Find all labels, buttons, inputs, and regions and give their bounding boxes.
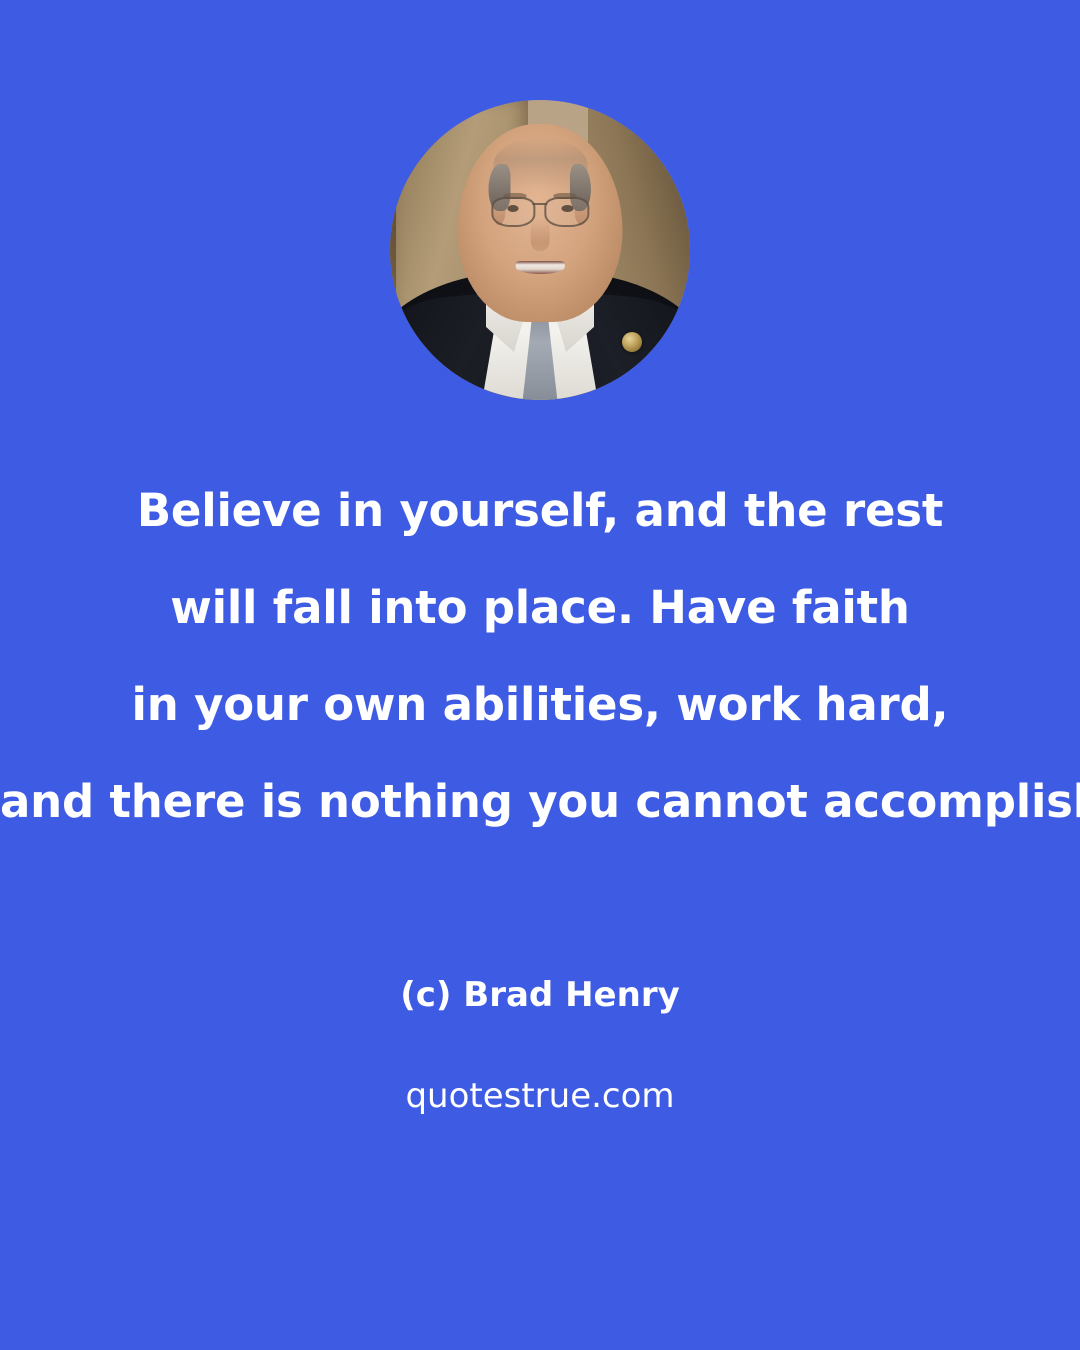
eyeglass-lens-left (491, 197, 536, 227)
mouth-smile (515, 261, 565, 275)
quote-attribution: (c) Brad Henry (0, 975, 1080, 1015)
lapel-pin-icon (622, 332, 642, 352)
avatar-photo-circle (390, 100, 690, 400)
quote-line: in your own abilities, work hard, (0, 656, 1080, 753)
quote-text: Believe in yourself, and the rest will f… (0, 462, 1080, 850)
quote-card: Believe in yourself, and the rest will f… (0, 0, 1080, 1350)
site-watermark: quotestrue.com (0, 1076, 1080, 1116)
face (458, 124, 623, 322)
quote-line: will fall into place. Have faith (0, 559, 1080, 656)
nose (530, 219, 550, 251)
avatar (390, 100, 690, 400)
eyeglass-lens-right (544, 197, 589, 227)
quote-line: Believe in yourself, and the rest (0, 462, 1080, 559)
quote-line: and there is nothing you cannot accompli… (0, 753, 1080, 850)
